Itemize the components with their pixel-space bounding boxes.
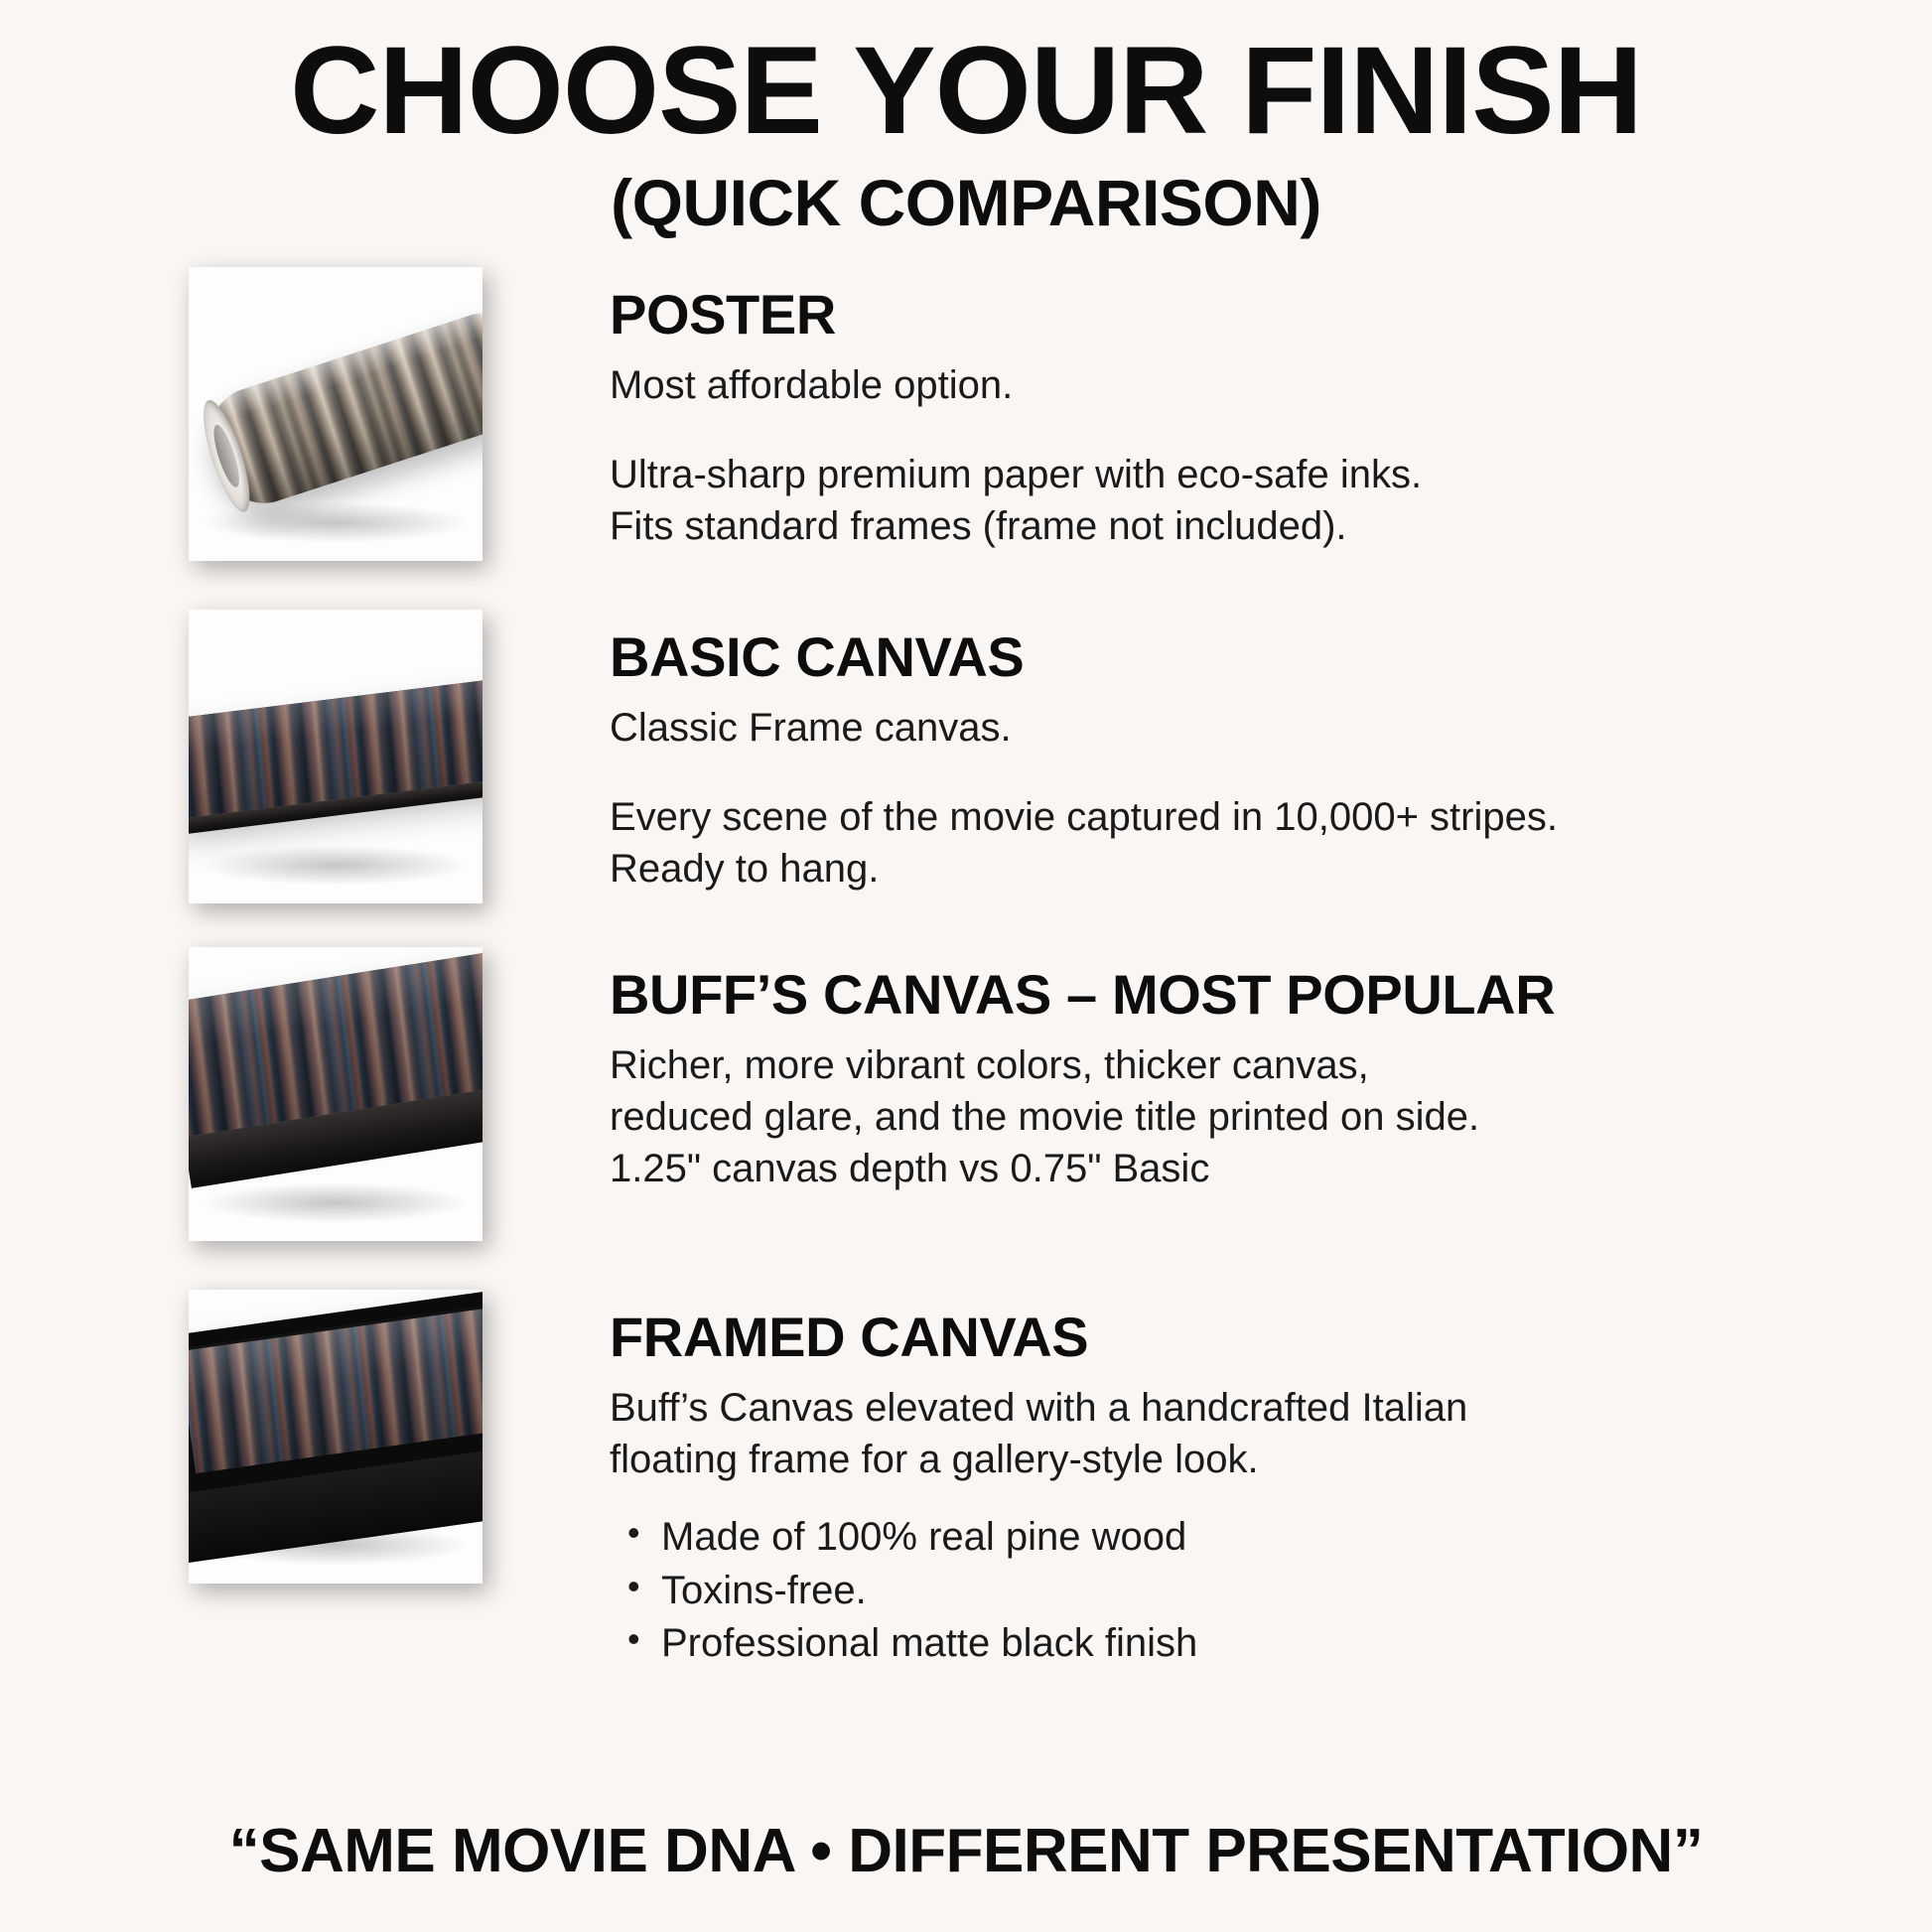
poster-scene	[189, 267, 483, 561]
basic-canvas-body-line-2: Ready to hang.	[610, 843, 1932, 895]
poster-roll-cap	[194, 396, 258, 517]
basic-canvas-title: BASIC CANVAS	[610, 627, 1932, 686]
finish-option-framed-canvas[interactable]: FRAMED CANVAS Buff’s Canvas elevated wit…	[0, 1290, 1932, 1587]
buffs-canvas-thumbnail-image	[189, 947, 483, 1241]
poster-thumbnail-image	[189, 267, 483, 561]
framed-canvas-artwork	[189, 1310, 483, 1474]
finish-option-buffs-canvas[interactable]: BUFF’S CANVAS – MOST POPULAR Richer, mor…	[0, 947, 1932, 1245]
framed-canvas-body: Buff’s Canvas elevated with a handcrafte…	[610, 1382, 1932, 1485]
framed-canvas-title: FRAMED CANVAS	[610, 1308, 1932, 1366]
list-item: Toxins-free.	[627, 1565, 1932, 1618]
infographic-page: CHOOSE YOUR FINISH (QUICK COMPARISON) PO…	[0, 0, 1932, 1932]
header: CHOOSE YOUR FINISH (QUICK COMPARISON)	[0, 0, 1932, 237]
page-title: CHOOSE YOUR FINISH	[0, 28, 1932, 155]
buffs-canvas-body-line-3: 1.25" canvas depth vs 0.75" Basic	[610, 1143, 1932, 1194]
finish-options-list: POSTER Most affordable option. Ultra-sha…	[0, 267, 1932, 1816]
buffs-canvas-body-line-1: Richer, more vibrant colors, thicker can…	[610, 1039, 1932, 1091]
buffs-canvas-title: BUFF’S CANVAS – MOST POPULAR	[610, 965, 1932, 1024]
list-item: Made of 100% real pine wood	[627, 1511, 1932, 1565]
basic-canvas-lead: Classic Frame canvas.	[610, 702, 1932, 754]
buffs-canvas-content: BUFF’S CANVAS – MOST POPULAR Richer, mor…	[483, 947, 1932, 1194]
framed-canvas-scene	[189, 1290, 483, 1584]
poster-title: POSTER	[610, 285, 1932, 344]
footer-tagline: “SAME MOVIE DNA • DIFFERENT PRESENTATION…	[0, 1816, 1932, 1886]
poster-content: POSTER Most affordable option. Ultra-sha…	[483, 267, 1932, 552]
page-subtitle: (QUICK COMPARISON)	[0, 169, 1932, 237]
poster-roll-cap-inner	[208, 423, 244, 490]
basic-canvas-thumbnail-image	[189, 610, 483, 903]
framed-canvas-body-line-2: floating frame for a gallery-style look.	[610, 1434, 1932, 1485]
framed-canvas-bullet-list: Made of 100% real pine wood Toxins-free.…	[610, 1511, 1932, 1671]
buffs-canvas-body-line-2: reduced glare, and the movie title print…	[610, 1091, 1932, 1143]
poster-lead: Most affordable option.	[610, 359, 1932, 411]
basic-canvas-body-line-1: Every scene of the movie captured in 10,…	[610, 791, 1932, 843]
buffs-canvas-ground-shadow	[201, 1182, 471, 1223]
framed-canvas-thumbnail-image	[189, 1290, 483, 1584]
buffs-canvas-body: Richer, more vibrant colors, thicker can…	[610, 1039, 1932, 1194]
poster-body-line-2: Fits standard frames (frame not included…	[610, 500, 1932, 552]
basic-canvas-ground-shadow	[201, 845, 471, 886]
basic-canvas-content: BASIC CANVAS Classic Frame canvas. Every…	[483, 610, 1932, 895]
basic-canvas-icon	[189, 677, 483, 818]
buffs-canvas-icon	[189, 950, 483, 1138]
framed-canvas-content: FRAMED CANVAS Buff’s Canvas elevated wit…	[483, 1290, 1932, 1671]
framed-canvas-body-line-1: Buff’s Canvas elevated with a handcrafte…	[610, 1382, 1932, 1434]
finish-option-poster[interactable]: POSTER Most affordable option. Ultra-sha…	[0, 267, 1932, 565]
basic-canvas-body: Every scene of the movie captured in 10,…	[610, 791, 1932, 895]
rolled-poster-icon	[194, 300, 483, 517]
poster-body-line-1: Ultra-sharp premium paper with eco-safe …	[610, 449, 1932, 500]
list-item: Professional matte black finish	[627, 1617, 1932, 1671]
poster-body: Ultra-sharp premium paper with eco-safe …	[610, 449, 1932, 552]
basic-canvas-scene	[189, 610, 483, 903]
buffs-canvas-scene	[189, 947, 483, 1241]
footer: “SAME MOVIE DNA • DIFFERENT PRESENTATION…	[0, 1816, 1932, 1932]
finish-option-basic-canvas[interactable]: BASIC CANVAS Classic Frame canvas. Every…	[0, 610, 1932, 897]
